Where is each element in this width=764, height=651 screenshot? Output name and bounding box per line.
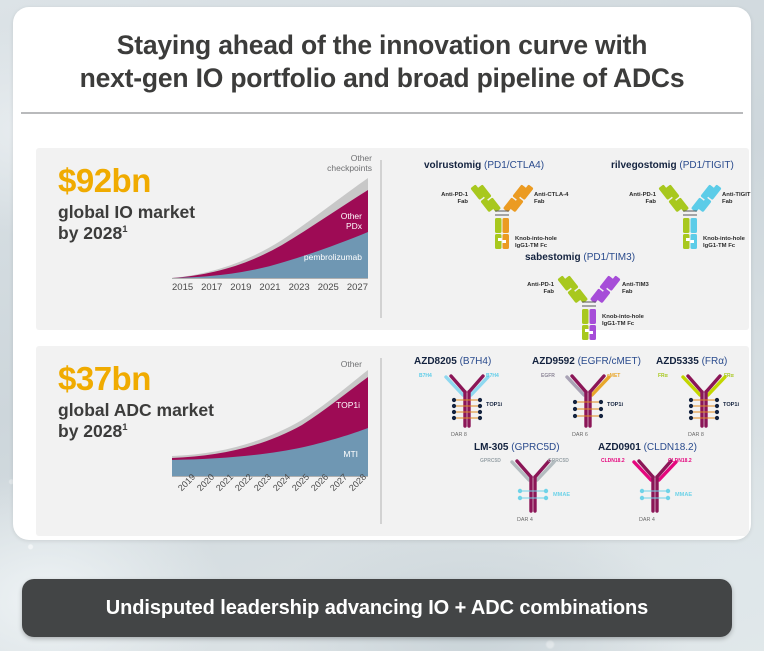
payload-label-azd8205: TOP1i (486, 402, 502, 408)
io-area-layers (172, 178, 368, 278)
io-market-chart: Other checkpoints Other PDx pembrolizuma… (172, 170, 368, 310)
fc-stem (495, 218, 509, 249)
caption-rilvegostomig-left-fab: Anti-PD-1 Fab (602, 192, 656, 207)
adc-payload-dots (452, 398, 482, 420)
hole-notch (590, 331, 594, 334)
hole-notch (691, 240, 695, 243)
adc-area-layers (172, 370, 368, 476)
adc-payload-linkers (642, 491, 668, 498)
adc-payload-linkers (520, 491, 546, 498)
payload-label-lm305: MMAE (553, 492, 570, 498)
antibody-glyph-sabestomig (560, 267, 618, 345)
fab-arm-right (691, 184, 722, 212)
page-title-line2: next-gen IO portfolio and broad pipeline… (53, 62, 711, 95)
io-stat-footnote: 1 (122, 224, 127, 235)
title-zone: Staying ahead of the innovation curve wi… (13, 7, 751, 112)
fab-arm-right (590, 275, 621, 303)
figure-title-azd0901: AZD0901 (CLDN18.2) (598, 442, 697, 453)
target-label-lm305-right: GPRC5D (548, 458, 569, 464)
dar-label-azd8205: DAR 8 (451, 432, 467, 438)
hinge-lines (582, 302, 596, 306)
knob-notch (686, 238, 690, 241)
target-label-azd8205-right: B7H4 (486, 373, 499, 379)
hinge-lines (495, 211, 509, 215)
dar-label-azd0901: DAR 4 (639, 517, 655, 523)
adc-stat-label-line2: by 2028 (58, 421, 122, 441)
target-label-azd8205-left: B7H4 (419, 373, 432, 379)
target-label-azd9592-right: cMET (607, 373, 620, 379)
payload-label-azd0901: MMAE (675, 492, 692, 498)
io-axis-tick: 2027 (347, 282, 368, 293)
fab-arm-left (658, 184, 689, 212)
io-axis-tick: 2015 (172, 282, 193, 293)
caption-volrustomig-left-fab: Anti-PD-1 Fab (414, 192, 468, 207)
caption-rilvegostomig-right-fab: Anti-TIGIT Fab (722, 192, 750, 207)
io-axis-tick: 2021 (259, 282, 280, 293)
title-divider (21, 112, 743, 114)
figure-title-rilvegostomig: rilvegostomig (PD1/TIGIT) (611, 160, 734, 171)
dar-label-lm305: DAR 4 (517, 517, 533, 523)
fc-stem (582, 309, 596, 340)
figure-title-lm305: LM-305 (GPRC5D) (474, 442, 560, 453)
adc-payload-linkers (575, 402, 601, 416)
io-panel-divider (380, 160, 382, 318)
adc-stat-footnote: 1 (122, 422, 127, 433)
knob-notch (498, 238, 502, 241)
caption-volrustomig-fc: Knob-into-hole IgG1-TM Fc (515, 236, 557, 251)
caption-sabestomig-fc: Knob-into-hole IgG1-TM Fc (602, 314, 644, 329)
figure-title-azd9592: AZD9592 (EGFR/cMET) (532, 356, 641, 367)
target-label-azd9592-left: EGFR (541, 373, 555, 379)
io-axis-tick: 2017 (201, 282, 222, 293)
caption-sabestomig-right-fab: Anti-TIM3 Fab (622, 282, 649, 297)
target-label-azd0901-left: CLDN18.2 (601, 458, 625, 464)
adc-stem (702, 392, 706, 426)
caption-rilvegostomig-fc: Knob-into-hole IgG1-TM Fc (703, 236, 745, 251)
molecule-lm305 (502, 457, 564, 519)
io-axis-ticks: 2015201720192021202320252027 (172, 282, 368, 293)
adc-payload-dots (689, 398, 719, 420)
knob-notch (585, 329, 589, 332)
slide-card: Staying ahead of the innovation curve wi… (13, 7, 751, 540)
figure-title-azd5335: AZD5335 (FRα) (656, 356, 727, 367)
caption-sabestomig-left-fab: Anti-PD-1 Fab (502, 282, 554, 297)
adc-stem (653, 477, 657, 511)
adc-payload-linkers (454, 400, 480, 418)
io-axis-tick: 2019 (230, 282, 251, 293)
molecule-sabestomig (560, 267, 618, 345)
target-label-azd5335-left: FRα (658, 373, 668, 379)
target-label-lm305-left: GPRC5D (480, 458, 501, 464)
io-stat-label-line2: by 2028 (58, 223, 122, 243)
figure-title-sabestomig: sabestomig (PD1/TIM3) (525, 252, 635, 263)
fc-stem (683, 218, 697, 249)
dar-label-azd5335: DAR 8 (688, 432, 704, 438)
target-label-azd5335-right: FRα (724, 373, 734, 379)
io-market-panel: $92bn global IO market by 20281 Other ch… (36, 148, 749, 330)
target-label-azd0901-right: CLDN18.2 (668, 458, 692, 464)
dar-label-azd9592: DAR 6 (572, 432, 588, 438)
fab-arm-left (470, 184, 501, 212)
adc-axis-ticks: 2019202020212022202320242025202620272028 (172, 480, 368, 514)
figure-title-volrustomig: volrustomig (PD1/CTLA4) (424, 160, 544, 171)
adc-stem (531, 477, 535, 511)
adc-market-panel: $37bn global ADC market by 20281 Other T… (36, 346, 749, 536)
adc-market-chart: Other TOP1i MTI 201920202021202220232024… (172, 364, 368, 522)
adc-glyph-azd0901 (624, 457, 686, 519)
io-axis-tick: 2025 (318, 282, 339, 293)
adc-panel-divider (380, 358, 382, 524)
payload-label-azd5335: TOP1i (723, 402, 739, 408)
io-axis-tick: 2023 (289, 282, 310, 293)
figure-title-azd8205: AZD8205 (B7H4) (414, 356, 491, 367)
page-title: Staying ahead of the innovation curve wi… (53, 29, 711, 96)
hole-notch (503, 240, 507, 243)
bottom-banner: Undisputed leadership advancing IO + ADC… (22, 579, 732, 637)
page-title-line1: Staying ahead of the innovation curve wi… (53, 29, 711, 62)
adc-payload-linkers (691, 400, 717, 418)
adc-stem (465, 392, 469, 426)
hinge-lines (683, 211, 697, 215)
fab-arm-right (503, 184, 534, 212)
payload-label-azd9592: TOP1i (607, 402, 623, 408)
adc-glyph-lm305 (502, 457, 564, 519)
caption-volrustomig-right-fab: Anti-CTLA-4 Fab (534, 192, 568, 207)
fab-arm-left (557, 275, 588, 303)
molecule-azd0901 (624, 457, 686, 519)
banner-text: Undisputed leadership advancing IO + ADC… (106, 597, 648, 620)
